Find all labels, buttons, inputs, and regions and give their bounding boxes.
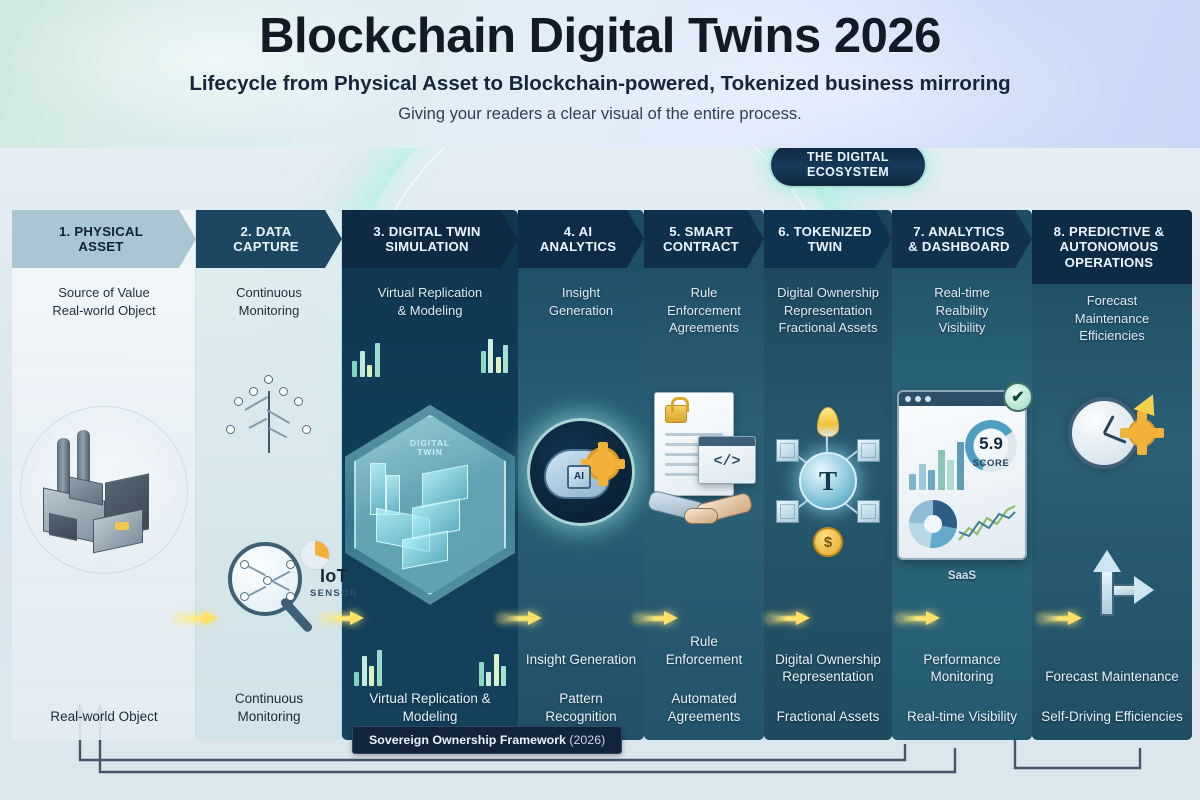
stage-subtitle-ai-analytics: Insight Generation [518,284,644,319]
hologram-label-line: TWIN [417,447,443,457]
bottom-label: Forecast Maintenance [1038,668,1186,686]
stage-physical-asset[interactable]: 1. PHYSICALASSET Source of Value Real-wo… [12,210,196,740]
bottom-label: Continuous Monitoring [202,690,336,726]
mini-bar-chart [479,646,507,686]
stage-subtitle-analytics-dashboard: Real-time Realbility Visibility [892,284,1032,337]
stage-subtitle-tokenized-twin: Digital Ownership Representation Fractio… [764,284,892,337]
stage-header-analytics-dashboard: 7. ANALYTICS& DASHBOARD [892,210,1032,268]
footer-banner-year: (2026) [569,733,605,747]
iot-tower-icon [196,319,342,690]
stage-data-capture[interactable]: 2. DATACAPTURE Continuous Monitoring [196,210,342,740]
stage-header-data-capture: 2. DATACAPTURE [196,210,342,268]
flow-arrow-7-8 [1040,613,1084,623]
donut-chart [909,500,957,548]
footer-banner-text: Sovereign Ownership Framework [369,733,566,747]
stage-predictive-autonomous-operations[interactable]: 8. PREDICTIVE &AUTONOMOUSOPERATIONS Fore… [1032,210,1192,740]
stage-header-smart-contract: 5. SMARTCONTRACT [644,210,764,268]
stage-header-line: 8. PREDICTIVE & [1054,224,1165,239]
bottom-label: Pattern Recognition [524,690,638,726]
stage-bottom-labels-tokenized-twin: Digital Ownership Representation Fractio… [764,651,892,740]
bottom-label: Insight Generation [524,651,638,669]
bottom-label: Real-time Visibility [898,708,1026,726]
stage-header-line: 7. ANALYTICS [913,224,1004,239]
ecosystem-badge: THE DIGITAL ECOSYSTEM [769,148,927,188]
stage-bottom-labels-analytics-dashboard: Performance Monitoring Real-time Visibil… [892,651,1032,740]
hologram-hexagon-icon: DIGITAL TWIN [342,319,518,690]
stage-smart-contract[interactable]: 5. SMARTCONTRACT Rule Enforcement Agreem… [644,210,764,740]
token-network-icon: T $ [764,337,892,651]
mini-bar-chart [481,333,509,373]
smart-contract-icon: </> [644,337,764,633]
stage-digital-twin-simulation[interactable]: 3. DIGITAL TWINSIMULATION Virtual Replic… [342,210,518,740]
bottom-label: Fractional Assets [770,708,886,726]
stage-header-line: TWIN [808,239,843,254]
bottom-label: Performance Monitoring [898,651,1026,687]
diagram-canvas: THE DIGITAL ECOSYSTEM 1. PHYSICALASSET S… [0,148,1200,800]
stage-header-line: 3. DIGITAL TWIN [373,224,480,239]
flow-arrow-4-5 [636,613,680,623]
factory-icon [12,319,196,708]
mini-bar-chart [354,646,382,686]
platform-label: SaaS [897,570,1027,582]
page-title: Blockchain Digital Twins 2026 [0,0,1200,64]
stage-header-line: ASSET [78,239,123,254]
stage-header-line: ANALYTICS [540,239,617,254]
dashboard-icon: 5.9 SCORE ✔ SaaS [892,337,1032,651]
stage-bottom-labels-predictive-autonomous-operations: Forecast Maintenance Self-Driving Effici… [1032,668,1192,740]
branching-arrows-icon [1072,548,1152,620]
stage-header-line: AUTONOMOUS [1060,239,1159,254]
stage-bottom-labels-smart-contract: Rule Enforcement Automated Agreements [644,633,764,740]
ecosystem-badge-line1: THE DIGITAL [807,150,889,164]
stage-analytics-dashboard[interactable]: 7. ANALYTICS& DASHBOARD Real-time Realbi… [892,210,1032,740]
mini-bar-chart [352,337,380,377]
stage-bottom-labels-data-capture: Continuous Monitoring [196,690,342,740]
coin-icon: $ [813,527,843,557]
token-symbol: T [799,452,857,510]
stage-header-line: 4. AI [564,224,593,239]
bottom-label: Real-world Object [18,708,190,726]
stage-header-line: OPERATIONS [1065,255,1154,270]
flow-arrow-6-7 [898,613,942,623]
stage-tokenized-twin[interactable]: 6. TOKENIZEDTWIN Digital Ownership Repre… [764,210,892,740]
stage-header-line: 5. SMART [669,224,733,239]
stage-strip: 1. PHYSICALASSET Source of Value Real-wo… [12,210,1192,740]
stage-header-line: CAPTURE [233,239,299,254]
footer-banner: Sovereign Ownership Framework (2026) [352,726,622,754]
page-tagline: Giving your readers a clear visual of th… [0,105,1200,124]
page-header: Blockchain Digital Twins 2026 Lifecycle … [0,0,1200,148]
ecosystem-badge-line2: ECOSYSTEM [807,165,889,179]
flow-arrow-5-6 [768,613,812,623]
stage-header-tokenized-twin: 6. TOKENIZEDTWIN [764,210,892,268]
stage-header-ai-analytics: 4. AIANALYTICS [518,210,644,268]
stage-header-predictive-autonomous-operations: 8. PREDICTIVE &AUTONOMOUSOPERATIONS [1032,210,1192,284]
stage-subtitle-physical-asset: Source of Value Real-world Object [12,284,196,319]
stage-header-line: & DASHBOARD [908,239,1010,254]
trend-line-chart [957,502,1017,546]
bottom-label: Rule Enforcement [650,633,758,669]
bottom-label: Virtual Replication & Modeling [348,690,512,726]
dashboard-score-value: 5.9 [965,434,1017,454]
ai-brain-icon: AI [518,319,644,650]
flow-arrow-3-4 [500,613,544,623]
stage-header-line: 2. DATA [240,224,291,239]
stage-header-line: CONTRACT [663,239,739,254]
flame-icon [817,407,839,437]
stage-subtitle-digital-twin-simulation: Virtual Replication & Modeling [342,284,518,319]
bottom-label: Digital Ownership Representation [770,651,886,687]
stage-subtitle-predictive-autonomous-operations: Forecast Maintenance Efficiencies [1032,292,1192,345]
stage-subtitle-smart-contract: Rule Enforcement Agreements [644,284,764,337]
stage-subtitle-data-capture: Continuous Monitoring [196,284,342,319]
ai-chip-label: AI [567,465,591,489]
bottom-label: Automated Agreements [650,690,758,726]
iot-sensor-label: IoT SENSOR [310,566,358,599]
stage-header-physical-asset: 1. PHYSICALASSET [12,210,196,268]
flow-arrow-2-3 [322,613,366,623]
stage-header-line: 6. TOKENIZED [778,224,872,239]
dashboard-score-label: SCORE [963,458,1019,469]
bottom-label: Self-Driving Efficiencies [1038,708,1186,726]
stage-header-line: SIMULATION [385,239,469,254]
stage-header-line: 1. PHYSICAL [59,224,143,239]
stage-header-digital-twin-simulation: 3. DIGITAL TWINSIMULATION [342,210,518,268]
stage-bottom-labels-physical-asset: Real-world Object [12,708,196,740]
stage-ai-analytics[interactable]: 4. AIANALYTICS Insight Generation AI [518,210,644,740]
code-glyph: </> [699,453,755,470]
check-badge-icon: ✔ [1003,382,1033,412]
page-subtitle: Lifecycle from Physical Asset to Blockch… [0,72,1200,96]
flow-arrow-1-2 [176,613,220,623]
